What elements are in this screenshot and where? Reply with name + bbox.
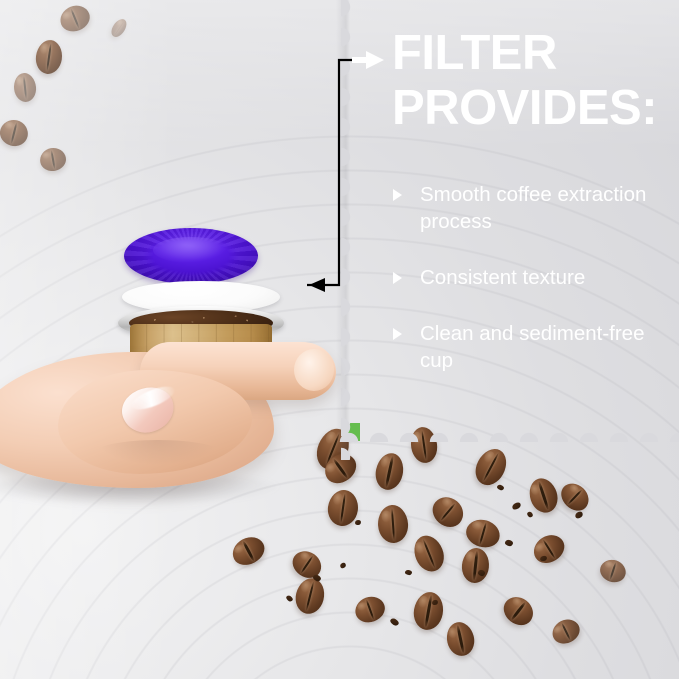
benefit-item: Consistent texture [392,264,670,291]
benefit-item-label: Smooth coffee extraction process [420,183,646,233]
hand-holding-capsule [0,336,360,506]
heading-line-2: PROVIDES: [392,81,674,136]
infographic-canvas: FILTER PROVIDES: Smooth coffee extractio… [0,0,679,679]
panel-scalloped-bottom-edge [334,424,679,442]
triangle-right-icon [393,328,402,340]
benefit-item-label: Clean and sediment-free cup [420,322,645,372]
lid-highlight [153,237,228,263]
benefit-item: Clean and sediment-free cup [392,320,670,374]
benefit-list: Smooth coffee extraction processConsiste… [392,181,670,403]
heading-line-1: FILTER [392,26,557,80]
benefit-item-label: Consistent texture [420,266,585,289]
triangle-right-icon [393,189,402,201]
knuckle-crease [94,440,222,466]
capsule-lid-purple [124,228,258,284]
panel-heading: FILTER PROVIDES: [392,26,674,136]
benefit-item: Smooth coffee extraction process [392,181,670,235]
triangle-right-icon [393,272,402,284]
